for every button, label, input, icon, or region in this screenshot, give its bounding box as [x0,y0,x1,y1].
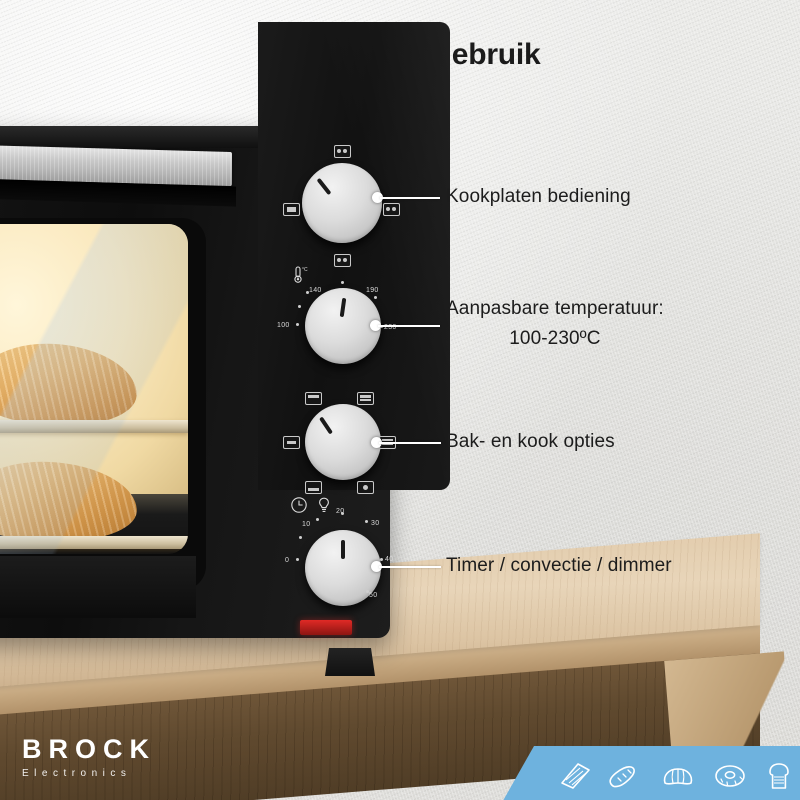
hob-icon-left [283,203,300,216]
svg-text:°C: °C [302,267,308,273]
timer-tick-30: 30 [371,520,379,527]
heat-mode-icon-left [283,436,300,449]
temp-tick-dot [296,323,299,326]
callout-timer-label: Timer / convectie / dimmer [446,551,672,581]
oven-door-bottom [0,556,196,618]
hob-icon-top [334,145,351,158]
brand-name: BROCK [22,736,156,763]
timer-tick-10: 10 [302,521,310,528]
cooktop-knob-marker [317,178,332,195]
callout-temperature: Aanpasbare temperatuur: 100-230ºC [446,294,664,354]
hob-icon-bottom [334,254,351,267]
cooktop-connector-line [380,197,440,199]
timer-tick-dot [366,590,369,593]
timer-tick-dot [365,520,368,523]
croissant-icon [658,759,698,793]
food-icon-row [556,752,796,800]
oven-foot [325,648,375,676]
callout-temperature-line1: Aanpasbare temperatuur: [446,294,664,324]
thermometer-celsius-icon: °C [290,265,310,287]
oven-glass-door [0,224,188,554]
timer-tick-50: 50 [369,592,377,599]
heat-mode-icon-bottom-left [305,481,322,494]
temp-tick-dot [341,281,344,284]
temperature-connector-line [378,325,440,327]
timer-tick-dot [380,558,383,561]
brand-tagline: Electronics [22,768,156,779]
timer-knob-marker [341,540,345,559]
temperature-knob-marker [340,298,347,317]
bread-slice-icon [762,759,796,793]
timer-connector-line [379,566,441,568]
temp-tick-100: 100 [277,322,290,329]
brand-logo: BROCK Electronics [22,736,156,779]
lightbulb-icon [316,496,332,516]
temp-tick-190: 190 [366,287,379,294]
heat-mode-icon-top-left [305,392,322,405]
timer-tick-40: 40 [385,556,393,563]
heat-mode-icon-top-right [357,392,374,405]
clock-icon [290,496,308,516]
callout-functions-label: Bak- en kook opties [446,427,615,457]
heat-mode-icon-bottom-right [357,481,374,494]
baguette-icon [606,759,646,793]
function-knob-marker [319,417,333,435]
functions-connector-line [379,442,441,444]
function-knob[interactable] [305,404,381,480]
power-indicator-light [300,620,352,635]
timer-tick-dot [341,512,344,515]
timer-tick-dot [296,558,299,561]
temp-tick-dot [298,305,301,308]
callout-temperature-line2: 100-230ºC [446,324,664,354]
donut-icon [710,759,750,793]
timer-tick-dot [316,518,319,521]
temp-tick-140: 140 [309,287,322,294]
glass-reflection [0,224,188,554]
cooktop-knob[interactable] [302,163,382,243]
hob-icon-right [383,203,400,216]
sandwich-icon [556,759,594,793]
callout-cooktop-label: Kookplaten bediening [446,182,631,212]
temp-tick-dot [374,296,377,299]
timer-tick-0: 0 [285,557,289,564]
temp-tick-dot [306,291,309,294]
timer-tick-dot [299,536,302,539]
product-feature-graphic: Makkelijk in gebruik [0,0,800,800]
